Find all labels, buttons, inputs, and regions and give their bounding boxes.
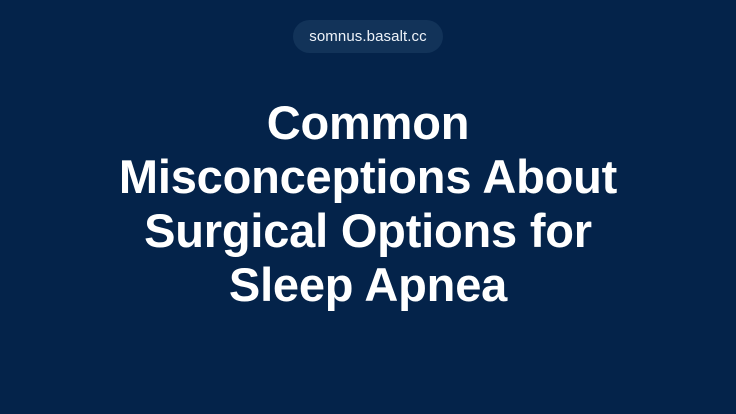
page-title-line-2: Misconceptions About xyxy=(48,150,688,204)
page-title: Common Misconceptions About Surgical Opt… xyxy=(48,96,688,312)
page-title-line-1: Common xyxy=(48,96,688,150)
site-badge-row: somnus.basalt.cc xyxy=(0,20,736,53)
page-title-line-3: Surgical Options for xyxy=(48,204,688,258)
hero-section: Common Misconceptions About Surgical Opt… xyxy=(0,96,736,312)
site-domain-badge[interactable]: somnus.basalt.cc xyxy=(293,20,442,53)
page-root: somnus.basalt.cc Common Misconceptions A… xyxy=(0,0,736,414)
page-title-line-4: Sleep Apnea xyxy=(48,258,688,312)
